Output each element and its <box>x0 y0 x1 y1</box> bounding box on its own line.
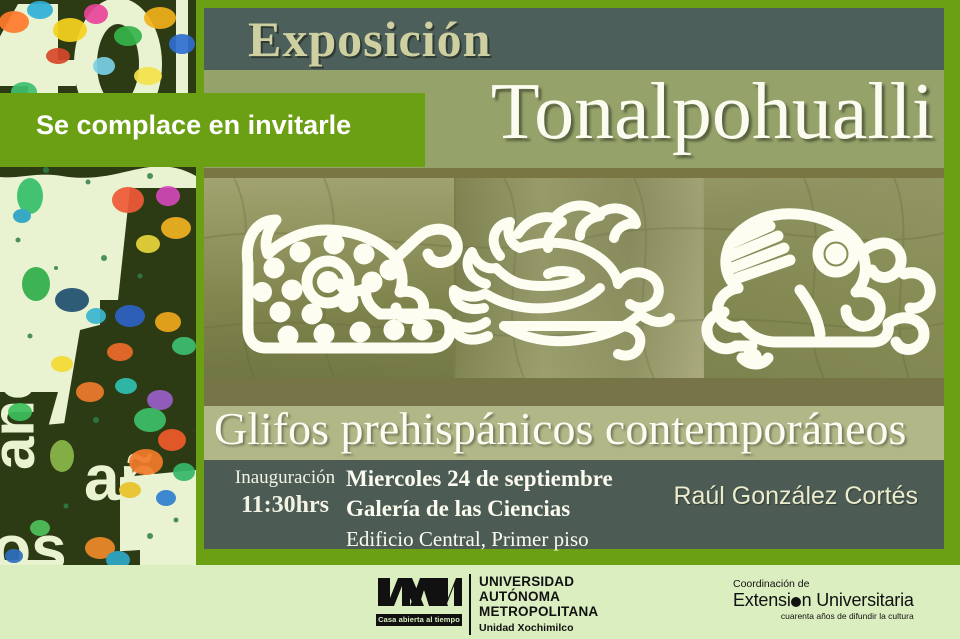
glyph-illustrations <box>204 178 944 378</box>
opening-time: 11:30hrs <box>220 490 350 520</box>
event-date: Miercoles 24 de septiembre <box>346 464 613 494</box>
event-location: Edificio Central, Primer piso <box>346 525 613 554</box>
uam-line-3: METROPOLITANA <box>479 604 598 619</box>
kicker-text: Exposición <box>248 14 491 64</box>
opening-label: Inauguración <box>220 466 350 490</box>
event-venue: Galería de las Ciencias <box>346 494 613 524</box>
coordinacion-line-2-a: Extensi <box>733 590 791 610</box>
uam-unit: Unidad Xochimilco <box>479 622 598 636</box>
subtitle-band: Glifos prehispánicos contemporáneos <box>204 406 944 460</box>
event-details: Miercoles 24 de septiembre Galería de la… <box>346 464 613 553</box>
opening-block: Inauguración 11:30hrs <box>220 466 350 520</box>
coordinacion-line-2-b: n Universitaria <box>802 590 914 610</box>
o-dot-icon <box>791 597 801 607</box>
coordinacion-tagline: cuarenta años de difundir la cultura <box>733 611 914 621</box>
coordinacion-line-1: Coordinación de <box>733 578 914 590</box>
uam-wordmark: UNIVERSIDAD AUTÓNOMA METROPOLITANA Unida… <box>469 574 598 635</box>
event-info-band: Inauguración 11:30hrs Miercoles 24 de se… <box>204 460 944 549</box>
uam-line-2: AUTÓNOMA <box>479 589 598 604</box>
svg-text:años: años <box>0 330 47 470</box>
uam-line-1: UNIVERSIDAD <box>479 574 598 589</box>
uam-monogram-icon <box>376 574 462 608</box>
coordinacion-logo: Coordinación de Extensin Universitaria c… <box>733 578 914 621</box>
poster-root: años añ os <box>0 0 960 639</box>
uam-motto: Casa abierta al tiempo <box>376 614 462 626</box>
invitation-box: Se complace en invitarle <box>0 93 425 167</box>
invitation-text: Se complace en invitarle <box>36 110 351 141</box>
glyph-artwork-panel <box>204 178 944 378</box>
exposicion-band: Exposición <box>204 8 944 70</box>
uam-logo: Casa abierta al tiempo UNIVERSIDAD AUTÓN… <box>376 574 598 635</box>
anniversary-art-panel: años añ os <box>0 0 196 565</box>
coordinacion-line-2: Extensin Universitaria <box>733 590 914 610</box>
footer: Casa abierta al tiempo UNIVERSIDAD AUTÓN… <box>0 565 960 639</box>
page-title: Tonalpohualli <box>491 66 934 158</box>
splatter-artwork: años añ os <box>0 0 196 565</box>
uam-mark-icon: Casa abierta al tiempo <box>376 574 462 626</box>
artist-name: Raúl González Cortés <box>673 482 918 511</box>
subtitle-text: Glifos prehispánicos contemporáneos <box>214 400 906 458</box>
poster-content: Exposición Tonalpohualli <box>196 0 944 549</box>
